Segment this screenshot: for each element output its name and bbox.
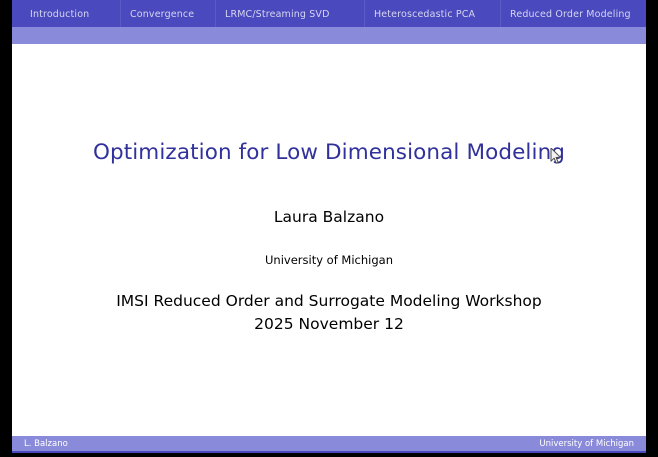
author-name: Laura Balzano [12,208,646,226]
nav-separator [120,0,121,27]
page-title: Optimization for Low Dimensional Modelin… [12,140,646,165]
navigation-subsection-bar [12,27,646,44]
author-institute: University of Michigan [12,253,646,267]
nav-item-heteroscedastic-pca[interactable]: Heteroscedastic PCA [374,9,475,20]
nav-item-convergence[interactable]: Convergence [130,9,194,20]
nav-item-introduction[interactable]: Introduction [30,9,89,20]
nav-separator [500,0,501,27]
slide-footer: L. Balzano University of Michigan [12,436,646,451]
slide-canvas: Introduction Convergence LRMC/Streaming … [12,0,646,453]
event-name: IMSI Reduced Order and Surrogate Modelin… [12,292,646,310]
nav-item-reduced-order-modeling[interactable]: Reduced Order Modeling [510,9,631,20]
nav-separator [364,0,365,27]
footer-author: L. Balzano [12,439,68,449]
nav-separator [215,0,216,27]
navigation-bar: Introduction Convergence LRMC/Streaming … [12,0,646,27]
footer-institute: University of Michigan [539,439,646,449]
presentation-window: Introduction Convergence LRMC/Streaming … [0,0,658,457]
nav-item-lrmc-streaming-svd[interactable]: LRMC/Streaming SVD [225,9,330,20]
event-date: 2025 November 12 [12,315,646,333]
title-block: Optimization for Low Dimensional Modelin… [12,44,646,438]
